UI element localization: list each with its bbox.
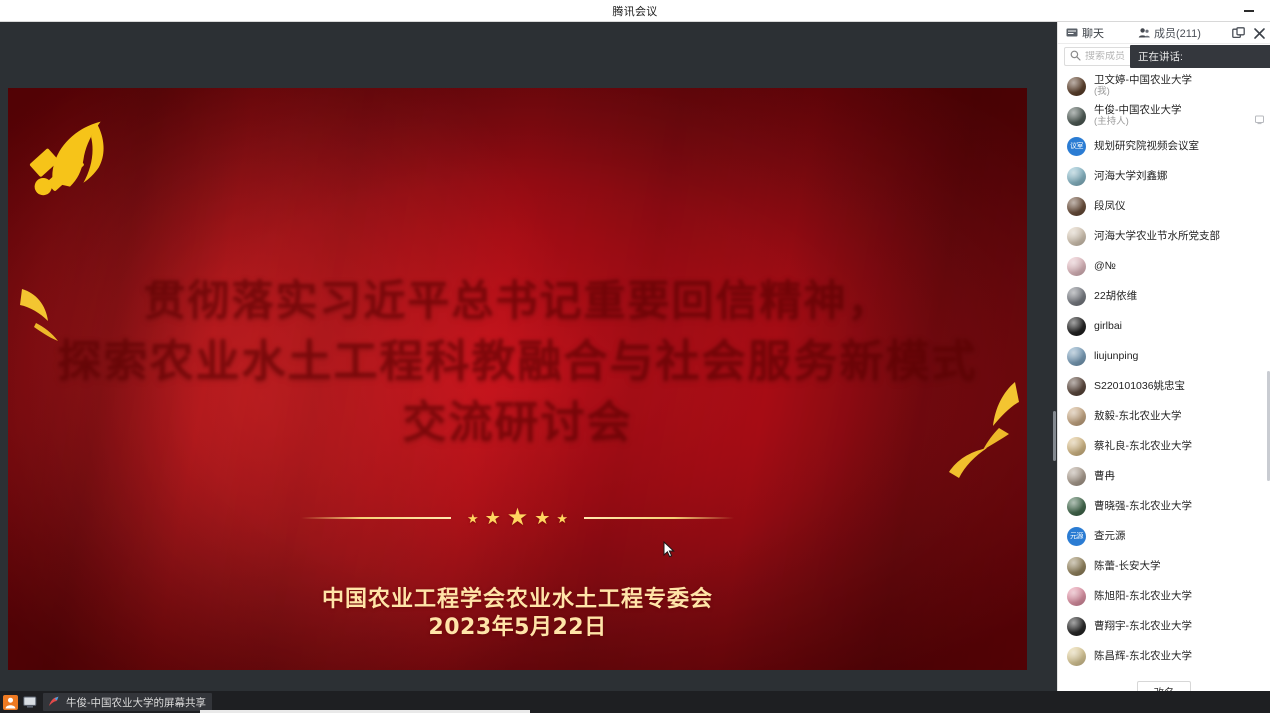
participant-text: girlbai [1094,320,1122,332]
taskbar-active-window[interactable]: 牛俊-中国农业大学的屏幕共享 [43,693,212,711]
participant-row[interactable]: @№ [1058,251,1270,281]
participant-name: 规划研究院视频会议室 [1094,140,1199,152]
participant-text: 规划研究院视频会议室 [1094,140,1199,152]
participant-name: 陈昌辉-东北农业大学 [1094,650,1192,662]
avatar [1067,617,1086,636]
os-taskbar: 牛俊-中国农业大学的屏幕共享 [0,691,1270,713]
avatar [1067,257,1086,276]
participant-name: 陈蕾-长安大学 [1094,560,1161,572]
tab-members-label: 成员(211) [1154,25,1201,41]
headline-line-2: 探索农业水土工程科教融合与社会服务新模式 [8,329,1027,391]
participant-text: 河海大学刘鑫娜 [1094,170,1168,182]
participant-name: 河海大学刘鑫娜 [1094,170,1168,182]
participant-text: 段凤仪 [1094,200,1126,212]
slide-date: 2023年5月22日 [8,614,1027,642]
people-icon [1138,27,1150,39]
participant-name: 卫文婷-中国农业大学 [1094,74,1192,86]
headline-line-3: 交流研讨会 [8,390,1027,452]
participant-row[interactable]: girlbai [1058,311,1270,341]
tab-chat-label: 聊天 [1082,25,1104,41]
participant-row[interactable]: 牛俊-中国农业大学(主持人) [1058,101,1270,131]
participant-name: 敖毅-东北农业大学 [1094,410,1182,422]
chat-bubble-icon [1066,27,1078,39]
share-screen-icon [46,695,61,710]
avatar [1067,647,1086,666]
participant-role: (主持人) [1094,117,1182,128]
participant-text: S220101036姚忠宝 [1094,380,1185,392]
participant-name: 曹冉 [1094,470,1115,482]
avatar [1067,557,1086,576]
participant-text: 曹翔宇-东北农业大学 [1094,620,1192,632]
avatar [1067,317,1086,336]
hammer-and-sickle-emblem [22,112,118,200]
shared-screen-stage[interactable]: 贯彻落实习近平总书记重要回信精神， 探索农业水土工程科教融合与社会服务新模式 交… [0,66,1057,670]
avatar [1067,167,1086,186]
avatar: 议室 [1067,137,1086,156]
participant-name: S220101036姚忠宝 [1094,380,1185,392]
tab-chat[interactable]: 聊天 [1060,22,1110,44]
close-icon[interactable] [1253,27,1266,40]
speaking-toast: 正在讲话: [1130,45,1270,68]
participant-text: 查元源 [1094,530,1126,542]
participant-text: liujunping [1094,350,1138,362]
participant-name: 曹翔宇-东北农业大学 [1094,620,1192,632]
participant-name: @№ [1094,260,1116,272]
avatar [1067,407,1086,426]
participant-name: liujunping [1094,350,1138,362]
avatar [1067,347,1086,366]
search-icon [1070,48,1081,66]
divider-rule-right [584,517,734,519]
panel-tab-bar: 聊天 成员(211) [1058,22,1270,44]
slide-divider: ★★★★★ [8,506,1027,530]
participant-row[interactable]: 蔡礼良-东北农业大学 [1058,431,1270,461]
participant-row[interactable]: 曹晓强-东北农业大学 [1058,491,1270,521]
avatar [1067,77,1086,96]
screen-root: 腾讯会议 [0,0,1270,713]
participant-row[interactable]: 曹冉 [1058,461,1270,491]
avatar [1067,497,1086,516]
avatar [1067,467,1086,486]
participant-row[interactable]: 陈蕾-长安大学 [1058,551,1270,581]
panel-action-buttons [1232,22,1266,44]
participant-text: 蔡礼良-东北农业大学 [1094,440,1192,452]
slide-footer-text: 中国农业工程学会农业水土工程专委会 2023年5月22日 [8,586,1027,642]
meeting-top-strip [0,22,1057,66]
stage-scrollbar[interactable] [1053,411,1056,461]
minimize-button[interactable] [1238,4,1260,18]
participant-row[interactable]: S220101036姚忠宝 [1058,371,1270,401]
participant-row[interactable]: 卫文婷-中国农业大学(我) [1058,71,1270,101]
avatar [1067,287,1086,306]
members-panel: 聊天 成员(211) [1057,22,1270,713]
participant-row[interactable]: liujunping [1058,341,1270,371]
participant-row[interactable]: 河海大学农业节水所党支部 [1058,221,1270,251]
participant-text: 陈昌辉-东北农业大学 [1094,650,1192,662]
member-search-row: 正在讲话: [1058,44,1270,68]
participant-name: 段凤仪 [1094,200,1126,212]
participant-row[interactable]: 段凤仪 [1058,191,1270,221]
participant-text: @№ [1094,260,1116,272]
participant-row[interactable]: 陈昌辉-东北农业大学 [1058,641,1270,671]
participant-row[interactable]: 陈旭阳-东北农业大学 [1058,581,1270,611]
mouse-cursor [663,541,675,559]
taskbar-window-label: 牛俊-中国农业大学的屏幕共享 [66,695,206,710]
participant-row[interactable]: 22胡依维 [1058,281,1270,311]
window-title-bar: 腾讯会议 [0,0,1270,22]
avatar [1067,107,1086,126]
participant-row[interactable]: 敖毅-东北农业大学 [1058,401,1270,431]
participant-text: 敖毅-东北农业大学 [1094,410,1182,422]
participant-name: 曹晓强-东北农业大学 [1094,500,1192,512]
avatar [1067,197,1086,216]
avatar [1067,227,1086,246]
participant-text: 卫文婷-中国农业大学(我) [1094,74,1192,98]
participant-text: 22胡依维 [1094,290,1137,302]
participant-row[interactable]: 议室规划研究院视频会议室 [1058,131,1270,161]
monitor-icon[interactable] [23,695,38,710]
participant-role: (我) [1094,87,1192,98]
participant-name: 陈旭阳-东北农业大学 [1094,590,1192,602]
divider-stars: ★★★★★ [467,506,568,530]
presentation-slide: 贯彻落实习近平总书记重要回信精神， 探索农业水土工程科教融合与社会服务新模式 交… [8,88,1027,670]
avatar: 元源 [1067,527,1086,546]
meeting-window: 贯彻落实习近平总书记重要回信精神， 探索农业水土工程科教融合与社会服务新模式 交… [0,22,1270,713]
participant-name: girlbai [1094,320,1122,332]
participant-text: 曹冉 [1094,470,1115,482]
popout-icon[interactable] [1232,27,1245,40]
participant-row[interactable]: 元源查元源 [1058,521,1270,551]
participant-text: 河海大学农业节水所党支部 [1094,230,1220,242]
window-title: 腾讯会议 [612,3,657,19]
participant-name: 22胡依维 [1094,290,1137,302]
avatar [1067,437,1086,456]
participant-row[interactable]: 河海大学刘鑫娜 [1058,161,1270,191]
participant-text: 陈蕾-长安大学 [1094,560,1161,572]
tab-members[interactable]: 成员(211) [1132,22,1207,44]
screen-share-icon [1255,112,1264,121]
participant-list[interactable]: 卫文婷-中国农业大学(我)牛俊-中国农业大学(主持人)议室规划研究院视频会议室河… [1058,71,1270,671]
participant-name: 查元源 [1094,530,1126,542]
participant-name: 河海大学农业节水所党支部 [1094,230,1220,242]
participant-text: 陈旭阳-东北农业大学 [1094,590,1192,602]
participant-name: 牛俊-中国农业大学 [1094,104,1182,116]
slide-headline: 贯彻落实习近平总书记重要回信精神， 探索农业水土工程科教融合与社会服务新模式 交… [8,270,1027,452]
participant-row[interactable]: 曹翔宇-东北农业大学 [1058,611,1270,641]
user-orange-icon[interactable] [3,695,18,710]
participant-name: 蔡礼良-东北农业大学 [1094,440,1192,452]
participant-text: 曹晓强-东北农业大学 [1094,500,1192,512]
avatar [1067,377,1086,396]
divider-rule-left [301,517,451,519]
slide-organization: 中国农业工程学会农业水土工程专委会 [8,586,1027,614]
headline-line-1: 贯彻落实习近平总书记重要回信精神， [8,270,1027,329]
avatar [1067,587,1086,606]
participant-text: 牛俊-中国农业大学(主持人) [1094,104,1182,128]
